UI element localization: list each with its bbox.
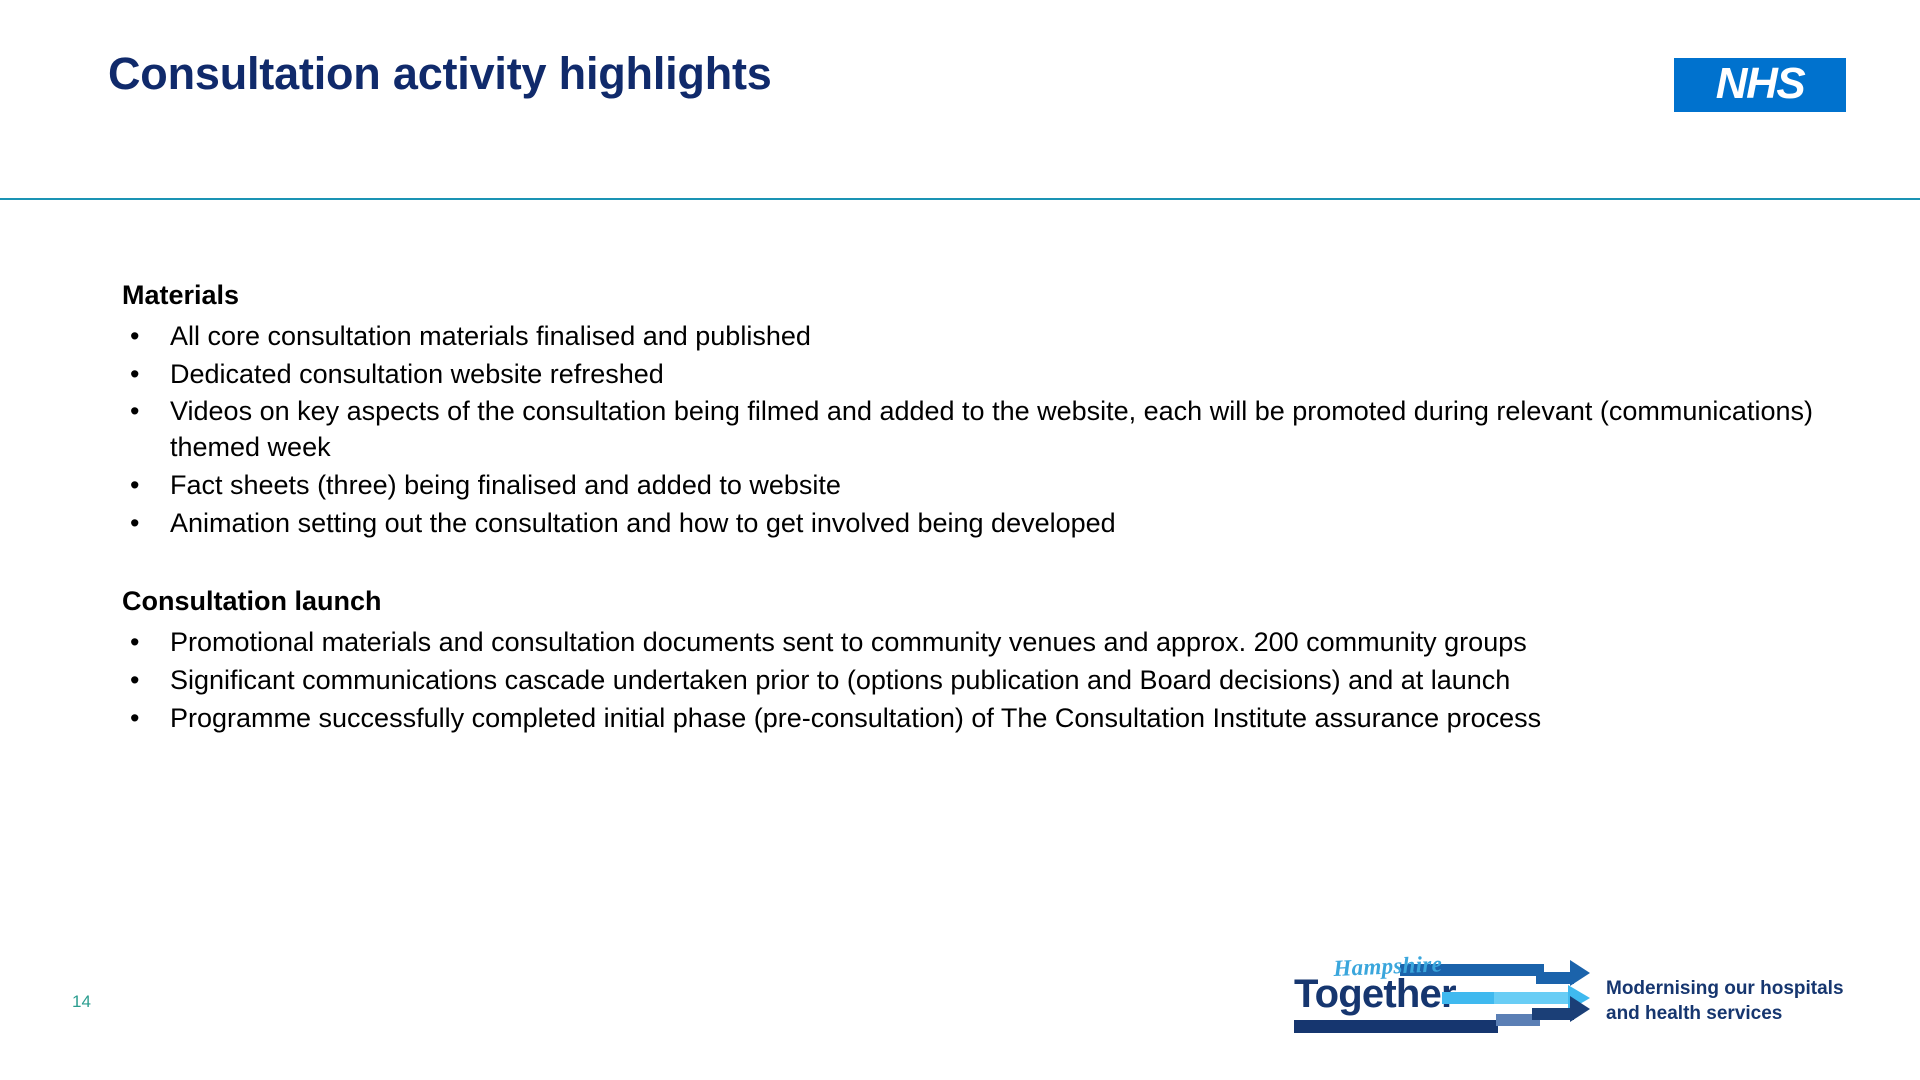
- arrow-shaft-tip: [1532, 1008, 1574, 1020]
- bullet-icon: •: [130, 663, 139, 699]
- nhs-logo: NHS: [1674, 58, 1846, 112]
- list-item-text: Animation setting out the consultation a…: [170, 508, 1116, 538]
- bullet-icon: •: [130, 468, 139, 504]
- logo-tagline: Modernising our hospitals and health ser…: [1606, 976, 1844, 1026]
- list-item: • Fact sheets (three) being finalised an…: [122, 468, 1822, 504]
- hampshire-together-logo: Hampshire Together: [1290, 952, 1600, 1044]
- header-divider: [0, 198, 1920, 200]
- list-item: • Promotional materials and consultation…: [122, 625, 1822, 661]
- arrow-shaft: [1442, 992, 1500, 1004]
- list-item: • Significant communications cascade und…: [122, 663, 1822, 699]
- bullet-list: • Promotional materials and consultation…: [122, 625, 1822, 737]
- slide-body: Materials • All core consultation materi…: [122, 278, 1822, 738]
- list-item-text: Promotional materials and consultation d…: [170, 627, 1527, 657]
- section-consultation-launch: Consultation launch • Promotional materi…: [122, 584, 1822, 736]
- bullet-icon: •: [130, 625, 139, 661]
- page-title: Consultation activity highlights: [108, 48, 772, 100]
- list-item: • Programme successfully completed initi…: [122, 701, 1822, 737]
- list-item: • All core consultation materials finali…: [122, 319, 1822, 355]
- arrow-head: [1570, 960, 1590, 986]
- list-item: • Videos on key aspects of the consultat…: [122, 394, 1822, 466]
- list-item-text: Significant communications cascade under…: [170, 665, 1510, 695]
- bullet-icon: •: [130, 701, 139, 737]
- section-heading: Materials: [122, 278, 1822, 314]
- list-item: • Dedicated consultation website refresh…: [122, 357, 1822, 393]
- logo-bar-bottom: [1294, 1020, 1498, 1033]
- list-item-text: All core consultation materials finalise…: [170, 321, 811, 351]
- slide-canvas: Consultation activity highlights NHS Mat…: [0, 0, 1920, 1080]
- bullet-icon: •: [130, 357, 139, 393]
- arrow-shaft-tip: [1536, 972, 1574, 984]
- section-materials: Materials • All core consultation materi…: [122, 278, 1822, 542]
- footer-logos: Hampshire Together Modernising: [1290, 952, 1890, 1044]
- list-item: • Animation setting out the consultation…: [122, 506, 1822, 542]
- list-item-text: Dedicated consultation website refreshed: [170, 359, 664, 389]
- bullet-list: • All core consultation materials finali…: [122, 319, 1822, 542]
- list-item-text: Fact sheets (three) being finalised and …: [170, 470, 841, 500]
- logo-main-word: Together: [1294, 974, 1456, 1014]
- page-number: 14: [72, 992, 91, 1012]
- list-item-text: Videos on key aspects of the consultatio…: [170, 396, 1813, 462]
- list-item-text: Programme successfully completed initial…: [170, 703, 1541, 733]
- arrow-head: [1570, 996, 1590, 1022]
- nhs-logo-text: NHS: [1716, 62, 1804, 106]
- bullet-icon: •: [130, 394, 139, 430]
- bullet-icon: •: [130, 319, 139, 355]
- arrow-shaft-tip: [1494, 992, 1572, 1004]
- bullet-icon: •: [130, 506, 139, 542]
- section-heading: Consultation launch: [122, 584, 1822, 620]
